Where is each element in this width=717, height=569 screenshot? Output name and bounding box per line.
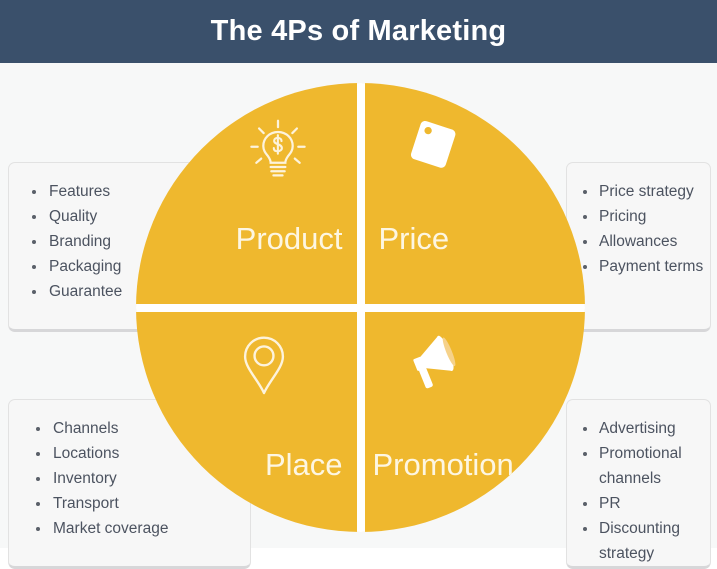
quadrant-label-promotion: Promotion — [373, 449, 514, 480]
list-item: Discounting strategy — [583, 516, 710, 566]
horizontal-divider — [136, 304, 585, 312]
price-list-card: Price strategy Pricing Allowances Paymen… — [566, 162, 711, 332]
price-list: Price strategy Pricing Allowances Paymen… — [567, 163, 710, 279]
price-tag-icon — [403, 115, 473, 185]
quadrant-product[interactable]: Product — [136, 83, 361, 308]
four-ps-circle: Product Price — [136, 83, 585, 532]
list-item: Payment terms — [583, 254, 710, 279]
list-item: PR — [583, 491, 710, 516]
list-item: Pricing — [583, 204, 710, 229]
promotion-list-card: Advertising Promotional channels PR Disc… — [566, 399, 711, 569]
quadrant-place[interactable]: Place — [136, 308, 361, 533]
circle-body: Product Price — [136, 83, 585, 532]
quadrant-promotion[interactable]: Promotion — [361, 308, 586, 533]
list-item: Allowances — [583, 229, 710, 254]
page-title: The 4Ps of Marketing — [211, 17, 507, 46]
quadrant-label-place: Place — [265, 449, 343, 480]
map-pin-icon — [229, 330, 299, 400]
list-item: Price strategy — [583, 179, 710, 204]
quadrant-label-price: Price — [379, 223, 450, 254]
quadrant-label-product: Product — [236, 223, 343, 254]
megaphone-icon — [405, 328, 475, 398]
quadrant-price[interactable]: Price — [361, 83, 586, 308]
diagram-area: Features Quality Branding Packaging Guar… — [0, 63, 717, 548]
header-bar: The 4Ps of Marketing — [0, 0, 717, 63]
lightbulb-dollar-icon — [243, 118, 313, 188]
list-item: Advertising — [583, 416, 710, 441]
list-item: Promotional channels — [583, 441, 710, 491]
infographic-page: The 4Ps of Marketing Features Quality Br… — [0, 0, 717, 548]
promotion-list: Advertising Promotional channels PR Disc… — [567, 400, 710, 566]
